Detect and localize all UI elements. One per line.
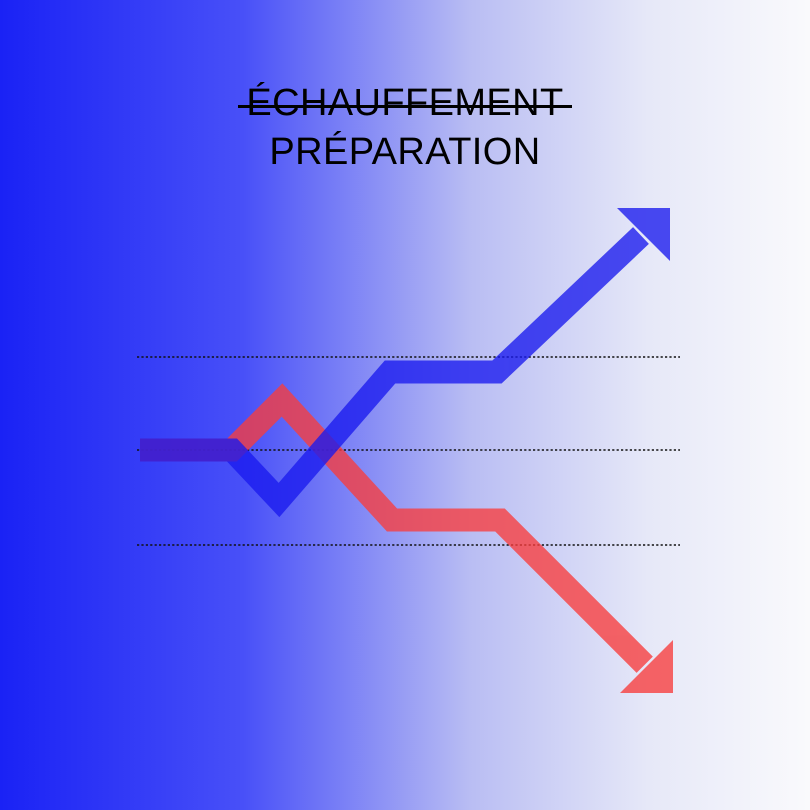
series-line-up xyxy=(140,208,670,500)
series-line-up-path xyxy=(140,236,641,500)
chart-canvas: ÉCHAUFFEMENT PRÉPARATION xyxy=(0,0,810,810)
struck-title-text: ÉCHAUFFEMENT xyxy=(246,84,563,122)
strikethrough-line xyxy=(238,105,571,108)
page-title: ÉCHAUFFEMENT PRÉPARATION xyxy=(0,84,810,171)
struck-title-wrapper: ÉCHAUFFEMENT xyxy=(246,84,563,122)
replacement-title-text: PRÉPARATION xyxy=(0,133,810,171)
